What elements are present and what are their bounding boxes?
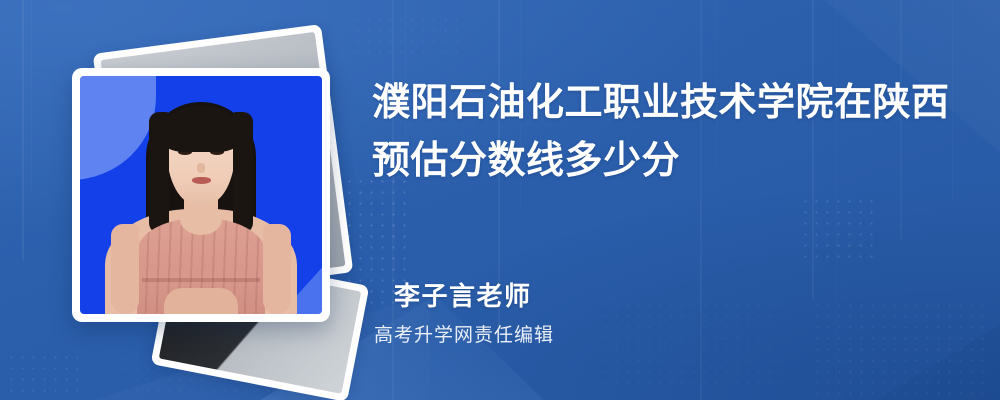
portrait-figure <box>80 76 322 314</box>
portrait-arm-right <box>263 224 291 314</box>
author-name: 李子言老师 <box>394 276 532 313</box>
portrait-hair-left <box>149 112 169 234</box>
text-column: 濮阳石油化工职业技术学院在陕西 预估分数线多少分 李子言老师 高考升学网责任编辑 <box>372 0 972 400</box>
photo-stack <box>48 34 368 364</box>
portrait-nose <box>197 163 205 173</box>
author-role: 高考升学网责任编辑 <box>374 320 554 347</box>
portrait-dress-waist <box>142 278 260 282</box>
portrait-arm-left <box>111 224 139 314</box>
page-title: 濮阳石油化工职业技术学院在陕西 预估分数线多少分 <box>372 74 957 190</box>
photo-frame-front <box>72 68 330 322</box>
portrait-hands <box>164 288 238 314</box>
article-cover-card: 濮阳石油化工职业技术学院在陕西 预估分数线多少分 李子言老师 高考升学网责任编辑 <box>0 0 1000 400</box>
portrait-photo <box>80 76 322 314</box>
portrait-hair-right <box>233 112 253 234</box>
